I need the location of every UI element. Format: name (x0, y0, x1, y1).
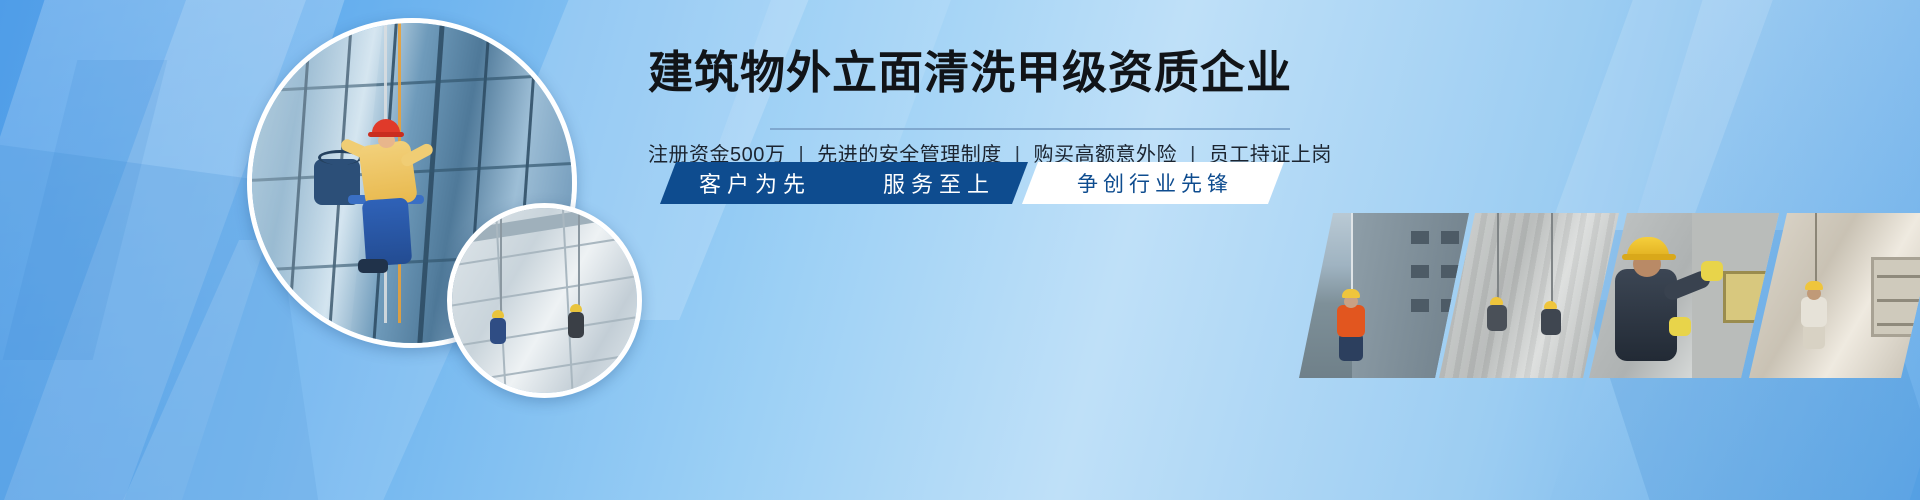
worker-legs (362, 197, 412, 266)
photo-circle-facade-workers (447, 203, 642, 398)
promotional-banner: 建筑物外立面清洗甲级资质企业 注册资金500万 | 先进的安全管理制度 | 购买… (0, 0, 1920, 500)
banner-headline: 建筑物外立面清洗甲级资质企业 (648, 50, 1288, 95)
facade-illustration (452, 208, 637, 393)
photo-panel-4 (1749, 213, 1920, 378)
hard-hat-icon (1805, 281, 1823, 290)
slogan-bar: 客户为先 服务至上 争创行业先锋 (648, 162, 1288, 204)
photo-panel-1 (1299, 213, 1469, 378)
slogan-highlight: 争创行业先锋 (1067, 168, 1233, 198)
headline-divider (770, 128, 1290, 130)
worker-boot (358, 259, 388, 273)
worker-left-helmet (492, 310, 504, 318)
slogan-bar-primary: 客户为先 服务至上 (660, 162, 1028, 204)
work-glove-icon-2 (1669, 317, 1691, 336)
slogan-primary-1: 客户为先 (693, 167, 811, 199)
photo-panel-3 (1589, 213, 1779, 378)
worker-right-helmet (570, 304, 582, 312)
slogan-bar-highlight: 争创行业先锋 (1016, 162, 1284, 204)
banner-content: 建筑物外立面清洗甲级资质企业 注册资金500万 | 先进的安全管理制度 | 购买… (648, 0, 1308, 500)
hard-hat-icon (1627, 237, 1669, 259)
slogan-primary-2: 服务至上 (877, 167, 995, 199)
hard-hat-icon (1342, 289, 1360, 298)
photo-strip (1299, 213, 1920, 378)
worker-right-body (568, 312, 584, 338)
worker-left-body (490, 318, 506, 344)
background-shard-10 (3, 60, 168, 360)
work-glove-icon (1701, 261, 1723, 281)
photo-panel-2 (1439, 213, 1619, 378)
